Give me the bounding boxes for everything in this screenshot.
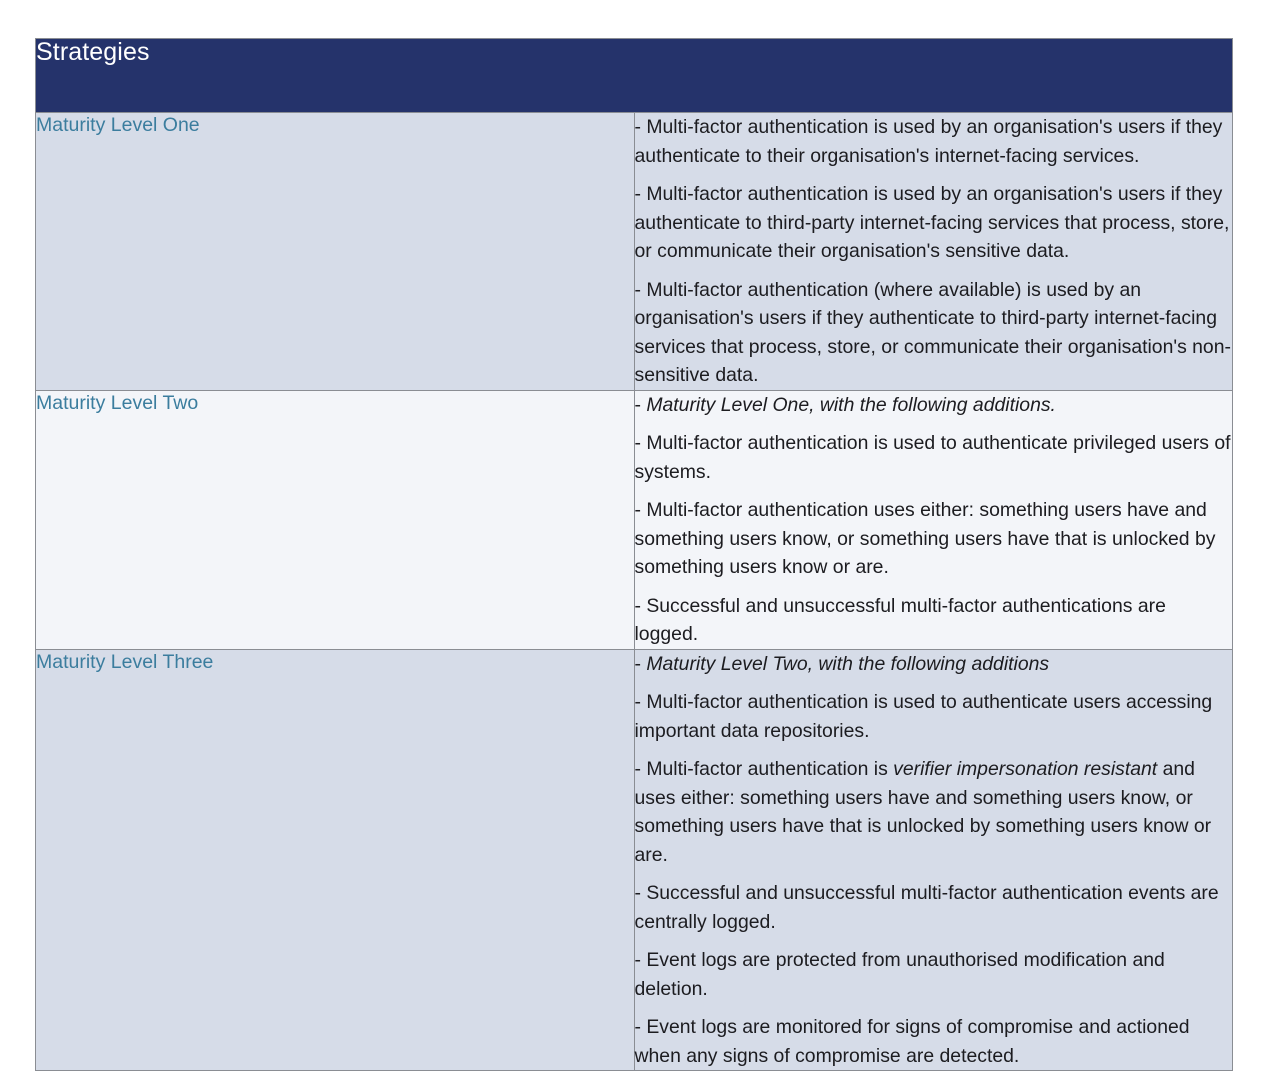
bullet-text: - Event logs are protected from unauthor… [635, 949, 1165, 1000]
strategy-bullet: - Multi-factor authentication is used to… [635, 688, 1233, 745]
strategy-bullet: - Multi-factor authentication is used by… [635, 180, 1233, 266]
strategy-content-cell: - Maturity Level One, with the following… [634, 390, 1233, 649]
bullet-text: - Event logs are monitored for signs of … [635, 1016, 1190, 1067]
strategy-bullet: - Maturity Level Two, with the following… [635, 650, 1233, 679]
strategy-content-cell: - Multi-factor authentication is used by… [634, 113, 1233, 391]
header-row: Strategies [36, 39, 1233, 113]
page-root: Strategies Maturity Level One- Multi-fac… [0, 0, 1270, 931]
bullet-emphasis-text: Maturity Level Two, with the following a… [646, 653, 1049, 675]
bullet-text: - Multi-factor authentication (where ava… [635, 279, 1231, 387]
bullet-text: - Multi-factor authentication uses eithe… [635, 499, 1216, 578]
bullet-text: - Multi-factor authentication is used by… [635, 183, 1230, 262]
bullet-text: - Multi-factor authentication is used to… [635, 432, 1231, 483]
strategy-bullet: - Event logs are protected from unauthor… [635, 946, 1233, 1003]
maturity-level-cell: Maturity Level One [36, 113, 635, 391]
table-row: Maturity Level Two- Maturity Level One, … [36, 390, 1233, 649]
bullet-text: - [635, 653, 647, 675]
bullet-text: - [635, 394, 647, 416]
bullet-emphasis-text: Maturity Level One, with the following a… [646, 394, 1056, 416]
strategy-bullet: - Multi-factor authentication uses eithe… [635, 496, 1233, 582]
strategies-header-cell: Strategies [36, 39, 1233, 113]
page-title: Strategies [36, 39, 1232, 67]
maturity-level-label: Maturity Level One [36, 113, 634, 138]
bullet-text: - Successful and unsuccessful multi-fact… [635, 595, 1166, 646]
strategy-bullet: - Maturity Level One, with the following… [635, 391, 1233, 420]
table-body: Maturity Level One- Multi-factor authent… [36, 113, 1233, 1071]
strategy-bullet: - Multi-factor authentication (where ava… [635, 276, 1233, 390]
strategy-bullet: - Multi-factor authentication is used by… [635, 113, 1233, 170]
strategy-bullet: - Successful and unsuccessful multi-fact… [635, 879, 1233, 936]
maturity-level-label: Maturity Level Three [36, 650, 634, 675]
table-row: Maturity Level Three- Maturity Level Two… [36, 649, 1233, 1071]
maturity-level-cell: Maturity Level Three [36, 649, 635, 1071]
strategy-content-cell: - Maturity Level Two, with the following… [634, 649, 1233, 1071]
bullet-text: - Multi-factor authentication is [635, 758, 894, 780]
bullet-text: - Multi-factor authentication is used to… [635, 691, 1213, 742]
bullet-text: - Multi-factor authentication is used by… [635, 116, 1223, 167]
strategy-bullet: - Event logs are monitored for signs of … [635, 1013, 1233, 1070]
maturity-level-label: Maturity Level Two [36, 391, 634, 416]
strategy-bullet: - Multi-factor authentication is verifie… [635, 755, 1233, 869]
strategy-bullet: - Multi-factor authentication is used to… [635, 429, 1233, 486]
table-row: Maturity Level One- Multi-factor authent… [36, 113, 1233, 391]
strategy-bullet: - Successful and unsuccessful multi-fact… [635, 592, 1233, 649]
table-header: Strategies [36, 39, 1233, 113]
bullet-emphasis-text: verifier impersonation resistant [893, 758, 1157, 780]
bullet-text: - Successful and unsuccessful multi-fact… [635, 882, 1219, 933]
maturity-level-cell: Maturity Level Two [36, 390, 635, 649]
maturity-model-table: Strategies Maturity Level One- Multi-fac… [35, 38, 1233, 1071]
